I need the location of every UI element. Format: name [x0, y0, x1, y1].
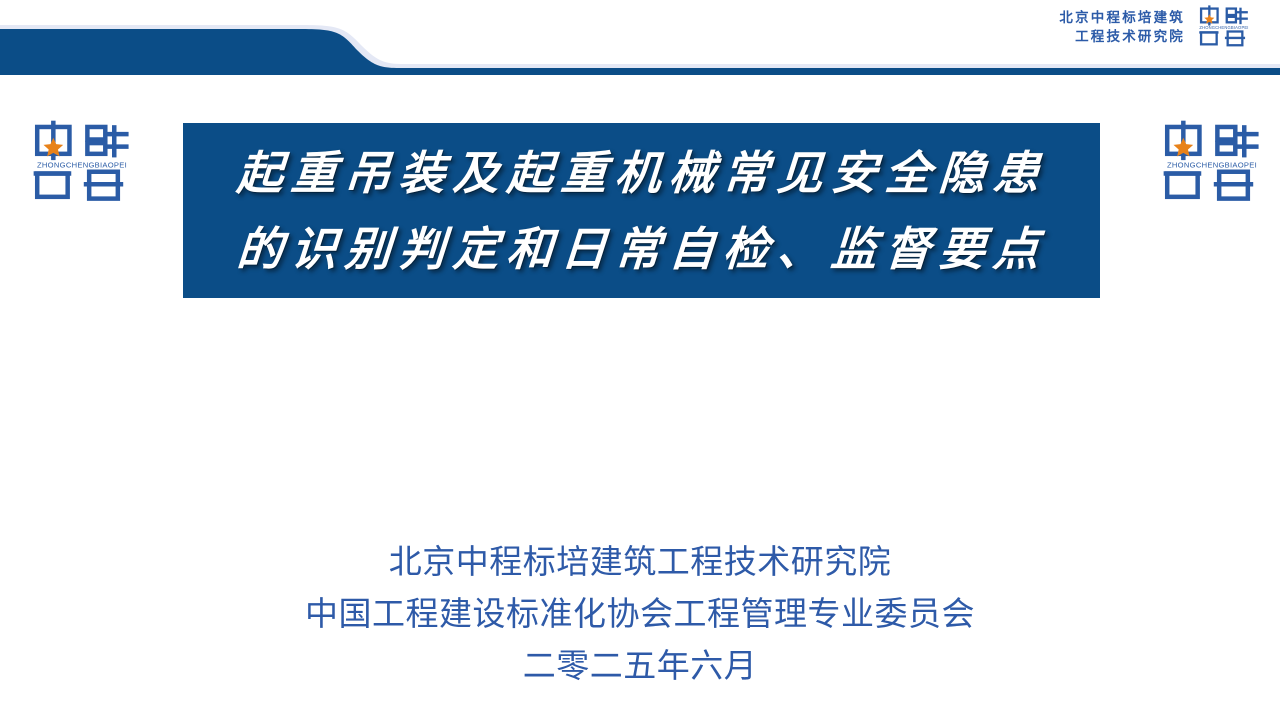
- header-organization-text: 北京中程标培建筑 工程技术研究院: [985, 8, 1185, 46]
- brand-logo-header: ZHONGCHENGBIAOPEI: [1196, 4, 1252, 48]
- title-banner: 起重吊装及起重机械常见安全隐患 的识别判定和日常自检、监督要点: [183, 123, 1100, 298]
- footer-line-3: 二零二五年六月: [0, 640, 1280, 692]
- brand-logo-left: ZHONGCHENGBIAOPEI: [28, 118, 136, 204]
- header-org-line-2: 工程技术研究院: [985, 27, 1185, 46]
- title-line-2: 的识别判定和日常自检、监督要点: [234, 211, 1049, 287]
- footer-line-2: 中国工程建设标准化协会工程管理专业委员会: [0, 588, 1280, 640]
- slide-canvas: 北京中程标培建筑 工程技术研究院 ZHONGCHENGBIAOPEI: [0, 0, 1280, 720]
- title-line-1: 起重吊装及起重机械常见安全隐患: [234, 135, 1049, 211]
- footer-line-1: 北京中程标培建筑工程技术研究院: [0, 536, 1280, 588]
- brand-logo-right: ZHONGCHENGBIAOPEI: [1158, 118, 1266, 204]
- logo-pinyin: ZHONGCHENGBIAOPEI: [1199, 25, 1248, 30]
- logo-pinyin: ZHONGCHENGBIAOPEI: [37, 160, 127, 169]
- logo-pinyin: ZHONGCHENGBIAOPEI: [1167, 160, 1257, 169]
- header-org-line-1: 北京中程标培建筑: [985, 8, 1185, 27]
- footer-text-block: 北京中程标培建筑工程技术研究院 中国工程建设标准化协会工程管理专业委员会 二零二…: [0, 536, 1280, 692]
